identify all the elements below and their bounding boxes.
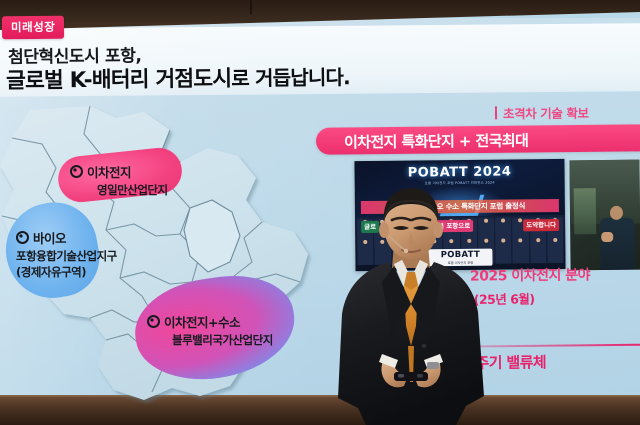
photo-secondary-person-body bbox=[600, 218, 635, 270]
photo-secondary bbox=[569, 160, 640, 271]
placard-3: 도약합니다 bbox=[523, 219, 559, 231]
vertical-bar-icon bbox=[495, 106, 497, 119]
pink-banner-text: 이차전지 특화단지 + 전국최대 bbox=[344, 130, 528, 153]
presenter-person bbox=[332, 186, 490, 425]
subtitle-text: 초격차 기술 확보 bbox=[503, 103, 589, 123]
map-label-bio-sub: 포항융합기술산업지구 bbox=[16, 248, 117, 264]
photo-secondary-panel bbox=[574, 188, 596, 234]
map-label-battery-sub: 영일만산업단지 bbox=[97, 182, 168, 198]
presentation-room-scene: 이차전지 영일만산업단지 바이오 포항융합기술산업지구 (경제자유구역) 이차전… bbox=[0, 0, 640, 425]
pink-highlight-banner: 이차전지 특화단지 + 전국최대 bbox=[316, 124, 640, 155]
map-label-bh-title: 이차전지+수소 bbox=[164, 312, 240, 331]
map-label-battery: 이차전지 영일만산업단지 bbox=[70, 162, 168, 198]
map-label-bio-sub2: (경제자유구역) bbox=[16, 264, 117, 280]
target-dot-icon bbox=[16, 231, 29, 244]
map-label-battery-title: 이차전지 bbox=[87, 162, 131, 181]
photo-secondary-person-head bbox=[610, 206, 623, 220]
ceiling-seam bbox=[250, 0, 252, 14]
map-label-bio: 바이오 포항융합기술산업지구 (경제자유구역) bbox=[16, 228, 117, 280]
page-title-line2-rest: 로 거듭납니다. bbox=[231, 65, 350, 90]
map-label-bh-sub: 블루밸리국가산업단지 bbox=[172, 332, 273, 348]
target-dot-icon bbox=[70, 165, 83, 178]
page-title-line2-bold: 글로벌 K-배터리 거점도시 bbox=[6, 66, 232, 93]
photo-secondary-person-arm bbox=[601, 232, 613, 242]
status-badge: 미래성장 bbox=[2, 16, 65, 40]
map-label-battery-hydrogen: 이차전지+수소 블루밸리국가산업단지 bbox=[147, 312, 273, 348]
map-label-bio-title: 바이오 bbox=[33, 228, 66, 247]
target-dot-icon bbox=[147, 315, 160, 328]
subtitle-row: 초격차 기술 확보 bbox=[495, 103, 589, 123]
page-title-line2: 글로벌 K-배터리 거점도시로 거듭납니다. bbox=[6, 60, 350, 95]
